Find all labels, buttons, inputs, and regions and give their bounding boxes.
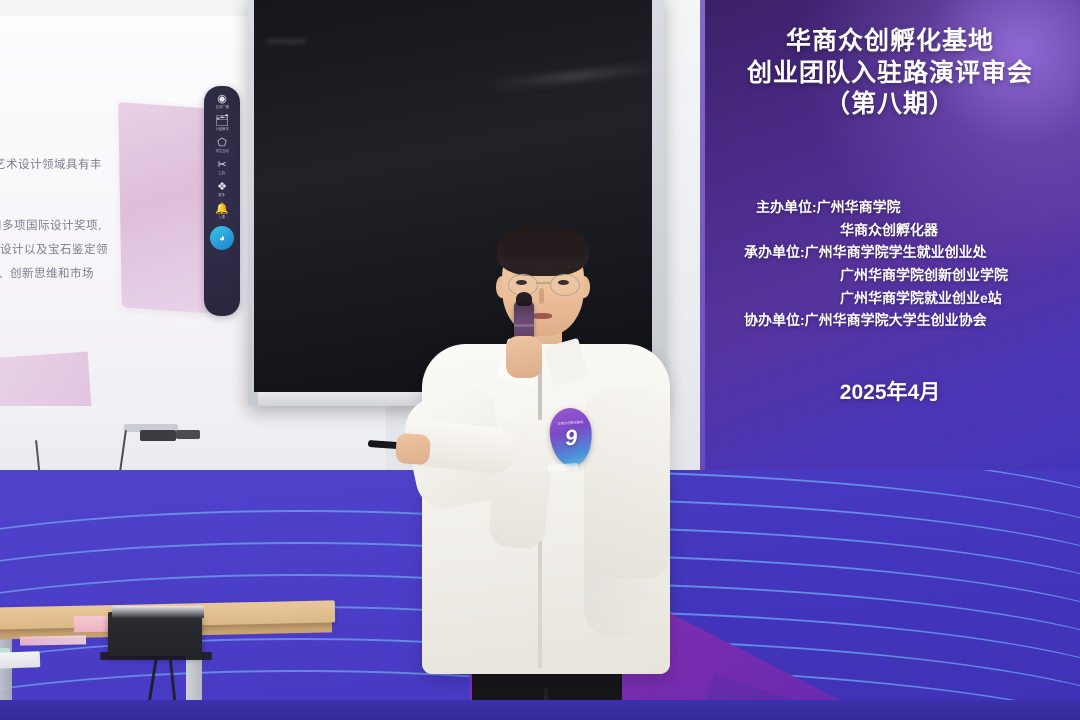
- badge-number: 9: [564, 426, 578, 449]
- white-object: [0, 651, 40, 669]
- smartboard-toolbar[interactable]: ◉ 互动广播 🗂 分组教学 ⬠ 学生互动 ✂ 工具 ❖ 更多 🔔 上课 ◕: [204, 86, 240, 316]
- student-interaction-icon: ⬠: [217, 136, 227, 149]
- laptop-body[interactable]: [108, 612, 202, 656]
- more-icon: ❖: [217, 180, 227, 193]
- toolbar-label-more: 更多: [219, 193, 226, 198]
- organizer-line-4: 广州华商学院创新创业学院: [700, 264, 1080, 287]
- glasses-lens-right: [550, 274, 580, 296]
- hand-holding-microphone: [506, 336, 542, 378]
- slide-text-line-1: 艺术设计领域具有丰: [0, 155, 102, 177]
- user-avatar-icon[interactable]: ◕: [210, 226, 234, 250]
- toolbar-label-group-teaching: 分组教学: [215, 127, 228, 132]
- banner-title-line-3: （第八期）: [700, 89, 1080, 121]
- organizer-line-2: 华商众创孵化器: [700, 219, 1080, 242]
- speaker: 华商众创孵化基地 9: [398, 218, 678, 720]
- toolbar-label-tools: 工具: [219, 171, 226, 176]
- nose: [539, 288, 544, 304]
- smartboard-foot-left: [140, 430, 176, 441]
- microphone-band: [514, 324, 534, 327]
- speaker-fringe: [502, 238, 586, 260]
- toolbar-item-group-teaching[interactable]: 🗂 分组教学: [204, 114, 240, 132]
- group-teaching-icon: 🗂: [215, 114, 229, 127]
- floor: [0, 700, 1080, 720]
- toolbar-item-more[interactable]: ❖ 更多: [204, 180, 240, 198]
- toolbar-item-class[interactable]: 🔔 上课: [204, 202, 240, 220]
- glasses-bridge: [536, 282, 550, 284]
- banner-organizers: 主办单位:广州华商学院 华商众创孵化器 承办单位:广州华商学院学生就业创业处 广…: [700, 196, 1080, 332]
- banner-title: 华商众创孵化基地 创业团队入驻路演评审会 （第八期）: [700, 26, 1080, 121]
- pink-paper-2: [20, 635, 86, 645]
- bell-icon: 🔔: [215, 202, 229, 215]
- banner-title-line-2: 创业团队入驻路演评审会: [700, 58, 1080, 90]
- microphone-head-icon: [516, 292, 532, 306]
- slide-text-line-4: 力、创新思维和市场: [0, 264, 94, 286]
- mouth: [532, 313, 552, 319]
- smartboard-foot-right: [176, 430, 200, 439]
- organizer-line-5: 广州华商学院就业创业e站: [700, 287, 1080, 310]
- banner-date: 2025年4月: [700, 376, 1080, 406]
- organizer-line-1: 主办单位:广州华商学院: [700, 196, 1080, 219]
- hand-holding-clicker: [395, 433, 431, 465]
- toolbar-item-broadcast[interactable]: ◉ 互动广播: [204, 92, 240, 110]
- conference-room-photo: 艺术设计领域具有丰 和多项国际设计奖项, 饰设计以及宝石鉴定领 力、创新思维和市…: [0, 0, 1080, 720]
- toolbar-item-tools[interactable]: ✂ 工具: [204, 158, 240, 176]
- toolbar-label-student-interaction: 学生互动: [215, 149, 228, 154]
- pink-paper-1: [74, 616, 110, 633]
- organizer-line-3: 承办单位:广州华商学院学生就业创业处: [700, 241, 1080, 264]
- banner-left-edge: [700, 0, 705, 470]
- event-banner: 华商众创孵化基地 创业团队入驻路演评审会 （第八期） 主办单位:广州华商学院 华…: [700, 0, 1080, 470]
- slide-text-line-2: 和多项国际设计奖项,: [0, 216, 102, 238]
- slide-decor-shape-2: [0, 352, 92, 406]
- speaker-right-sleeve: [584, 388, 670, 578]
- broadcast-icon: ◉: [217, 92, 227, 105]
- toolbar-label-class: 上课: [219, 215, 226, 220]
- toolbar-item-student-interaction[interactable]: ⬠ 学生互动: [204, 136, 240, 154]
- slide-text-line-3: 饰设计以及宝石鉴定领: [0, 240, 108, 262]
- tools-icon: ✂: [217, 158, 226, 171]
- toolbar-label-broadcast: 互动广播: [215, 105, 228, 110]
- organizer-line-6: 协办单位:广州华商学院大学生创业协会: [700, 309, 1080, 332]
- banner-title-line-1: 华商众创孵化基地: [700, 26, 1080, 58]
- laptop-lid: [112, 606, 204, 618]
